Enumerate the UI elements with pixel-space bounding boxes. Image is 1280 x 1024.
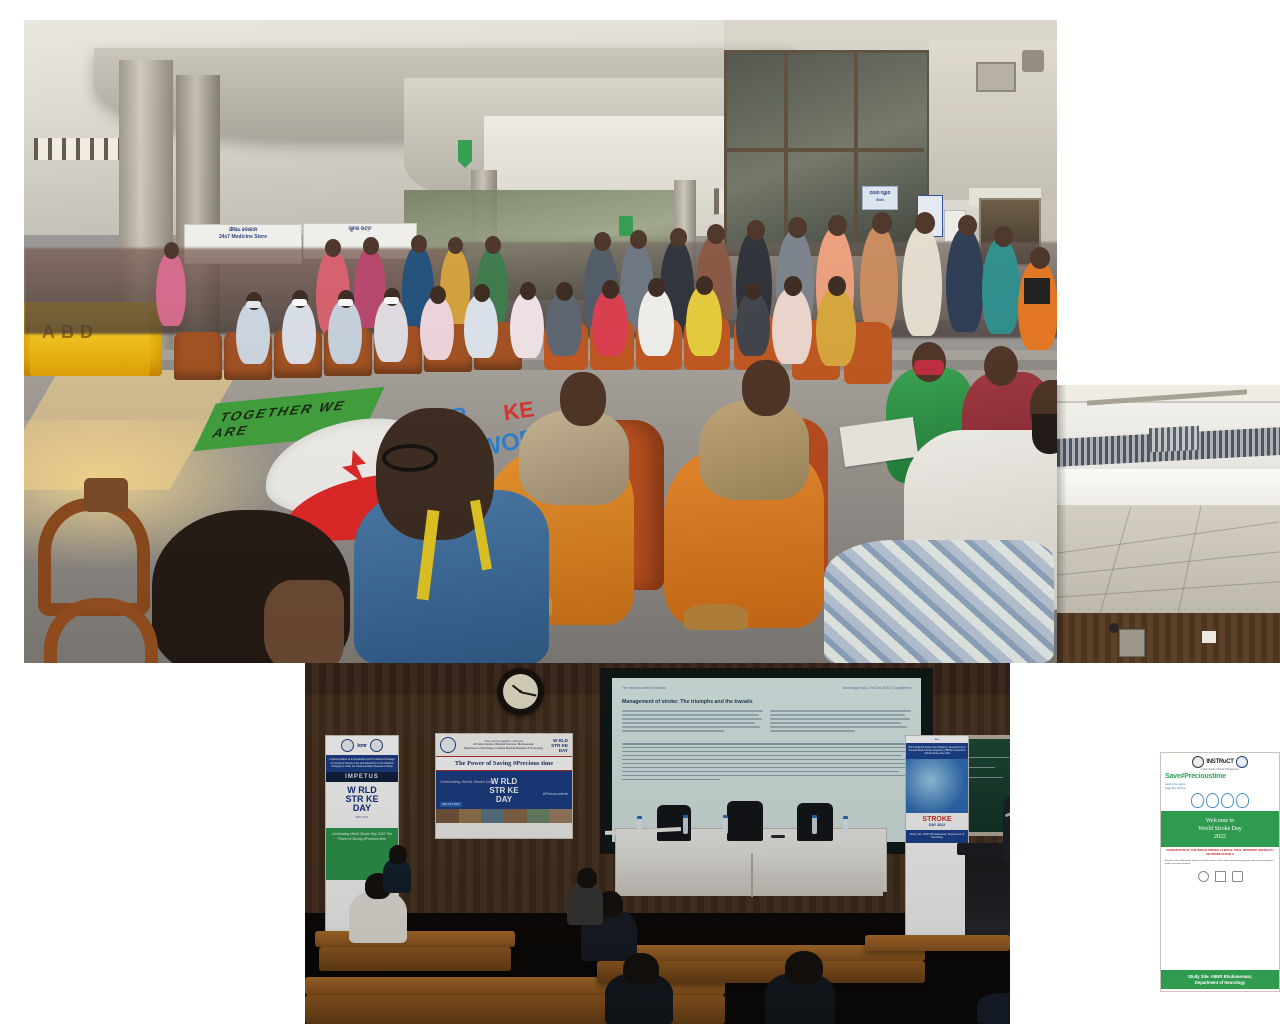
person-head	[742, 360, 790, 416]
podium-banner-project-title: IPD & National Stroke Care Registry | De…	[906, 743, 968, 759]
wood-panelled-wall	[1057, 613, 1280, 663]
lectern-podium	[965, 848, 1010, 948]
sari-shawl	[699, 400, 809, 500]
poster-header-row: ଅଖିଳ ଭାରତୀୟ ଆୟୁର୍ବିଜ୍ଞାନ ପ୍ରତିଷ୍ଠାନ All …	[436, 734, 572, 756]
slide-header-left: The triumphs and the travails	[622, 686, 666, 690]
person-standing	[902, 226, 942, 336]
podium-banner-logos: ■ ●	[906, 736, 968, 743]
welcome-line-3: 2022	[1163, 833, 1277, 841]
audience-member-body	[567, 883, 603, 925]
person-head	[560, 372, 606, 426]
slide-title: Management of stroke: The triumphs and t…	[622, 699, 911, 705]
water-bottle	[723, 815, 728, 834]
poster-photo-strip	[436, 809, 572, 823]
speech-difficulty-icon	[1221, 793, 1234, 808]
person-head	[747, 220, 765, 240]
partner-logo-icon	[1232, 871, 1243, 882]
person-head	[784, 276, 802, 296]
sign-exit-text: Exit	[864, 196, 896, 203]
wsd-line-3: DAY	[326, 804, 398, 813]
right-banner-welcome-block: Welcome to World Stroke Day 2022	[1161, 811, 1279, 847]
right-banner-consortium-heading: CONSORTIUM OF THE INDIAN STROKE CLINICAL…	[1161, 847, 1279, 858]
window-transom	[724, 148, 924, 152]
person-head	[994, 226, 1013, 247]
podium-banner-wsd-logo: STROKE DAY 2022	[906, 813, 968, 830]
seated-attendee-red-sari	[592, 290, 628, 356]
ceiling-speaker-icon	[1109, 623, 1119, 633]
person-head	[164, 242, 179, 259]
right-banner-footer: Study Site: AIIMS Bhubaneswar, Departmen…	[1161, 970, 1279, 989]
banner-left-wsd-logo: W RLD STR KE DAY 29th OCT	[326, 782, 398, 826]
person-head	[788, 217, 807, 238]
person-standing	[860, 226, 898, 334]
ac-diffuser-grille-segment	[1149, 426, 1199, 453]
slide-columns	[622, 710, 911, 734]
poster-photo-thumb	[436, 809, 459, 823]
wall-speaker	[1022, 50, 1044, 72]
govt-emblem-icon	[341, 739, 354, 752]
standee-banner-podium: ■ ● IPD & National Stroke Care Registry …	[905, 735, 969, 937]
arm-weakness-icon	[1206, 793, 1219, 808]
audience-bench	[865, 935, 1010, 951]
poster-wsd-line-2: STR KE	[489, 786, 518, 795]
water-bottle	[683, 815, 688, 834]
person-head	[485, 236, 501, 254]
photo-edge-shadow	[1057, 385, 1067, 663]
foot-sandal	[684, 604, 748, 630]
water-bottle	[812, 815, 817, 834]
water-bottle	[843, 816, 848, 835]
face-mask-icon	[384, 297, 399, 304]
wsd-year: 29th OCT	[326, 813, 398, 822]
seated-staff	[420, 296, 454, 360]
poster-photo-thumb	[549, 809, 572, 823]
poster-photo-thumb	[527, 809, 550, 823]
seated-attendee	[772, 288, 812, 364]
poster-wsd-line-1: W RLD	[489, 777, 518, 786]
poster-institute-block: ଅଖିଳ ଭାରତୀୟ ଆୟୁର୍ବିଜ୍ଞାନ ପ୍ରତିଷ୍ଠାନ All …	[459, 740, 548, 750]
poster-wsd-logo: W RLD STR KE DAY	[489, 777, 518, 804]
partner-logo-icon	[1198, 871, 1209, 882]
poster-wsd-band: Celebrating World Stroke Day W RLD STR K…	[436, 771, 572, 809]
poster-wsd-line-3: DAY	[489, 795, 518, 804]
right-banner-fast-icons	[1161, 790, 1279, 811]
person-head	[448, 237, 463, 254]
person-standing	[982, 238, 1020, 334]
icmr-logo-icon: icmr	[357, 743, 366, 749]
dais-table-front	[617, 851, 883, 896]
audience-bench	[315, 931, 515, 947]
wall-thermostat	[1119, 629, 1145, 657]
time-to-call-icon	[1236, 793, 1249, 808]
seated-staff	[510, 292, 544, 358]
wall-switch-plate	[1202, 631, 1216, 643]
person-head	[556, 282, 573, 301]
govt-emblem-icon	[1192, 756, 1204, 768]
wall-ac-unit	[976, 62, 1016, 92]
person-head	[325, 239, 341, 257]
seated-attendee	[816, 288, 856, 366]
aiims-emblem-icon	[440, 737, 456, 753]
photo-collage: ଔଷଧ ଦୋକାନ 24x7 Medicine Store ସୂଚନା ପଟ୍ଟ…	[0, 0, 1280, 1024]
person-head	[958, 215, 977, 236]
face-mask-icon	[338, 299, 353, 306]
false-ceiling-tiles	[1057, 505, 1280, 615]
poster-middle: ଅଖିଳ ଭାରତୀୟ ଆୟୁର୍ବିଜ୍ଞାନ ପ୍ରତିଷ୍ଠାନ All …	[435, 733, 573, 839]
sign-notice-board-text: ସୂଚନା ପଟ୍ଟ	[305, 226, 415, 233]
poster-photo-thumb	[504, 809, 527, 823]
dais-table-seam	[751, 853, 753, 897]
person-head	[520, 282, 536, 300]
person-head	[363, 237, 379, 255]
seated-attendee	[638, 288, 674, 356]
person-head	[707, 224, 725, 244]
slide-body-paragraph	[622, 743, 911, 780]
person-head	[745, 282, 761, 300]
banner-left-logos: icmr	[326, 736, 398, 755]
right-banner-body-text: A multi-centre collaborative network of …	[1161, 858, 1279, 868]
photo-auditorium-ceiling	[1057, 385, 1280, 663]
poster-wsd-mini-logo: W RLD STR KE DAY	[551, 738, 568, 753]
seated-attendee-yellow	[686, 286, 722, 356]
podium-banner-footer: Study Site: AIIMS Bhubaneswar, Departmen…	[906, 830, 968, 843]
slide-column-left	[622, 710, 763, 734]
person-head	[872, 212, 892, 234]
seated-attendee	[546, 292, 582, 356]
instruct-logo-icon: INSTRuCT	[1206, 759, 1233, 765]
audience-member-head	[389, 845, 407, 864]
wsd-mini-line-3: DAY	[559, 748, 568, 753]
person-head	[430, 286, 446, 304]
wooden-chair	[174, 332, 222, 380]
sign-exit: ବାହାର ଦ୍ୱାର Exit	[862, 186, 898, 210]
brain-with-clock-icon	[906, 759, 968, 813]
slide-header-right: Neurology India | Oct-Dec 2022 | Supplem…	[843, 686, 911, 690]
person-head	[828, 215, 847, 236]
slide-header: The triumphs and the travails Neurology …	[622, 686, 911, 690]
speaker-torso	[1003, 795, 1010, 861]
seated-staff	[464, 294, 498, 358]
poster-subheader: Department of Neurology & Institute Medi…	[464, 747, 543, 750]
audience-member-head	[785, 951, 823, 985]
person-standing	[946, 228, 984, 332]
seated-staff	[374, 298, 408, 362]
seated-staff	[236, 302, 270, 364]
person-head	[1030, 247, 1050, 269]
face-mask-icon	[246, 301, 261, 308]
right-banner-partner-logos	[1161, 868, 1279, 885]
table-microphone	[771, 835, 785, 838]
partner-logo-icon	[1215, 871, 1226, 882]
podium-wsd-line-3: DAY 2022	[906, 823, 968, 827]
face-mask-icon	[914, 360, 944, 375]
person-head	[984, 346, 1018, 386]
person-head	[411, 235, 427, 253]
person-head	[630, 230, 647, 249]
sign-medicine-store-text: 24x7 Medicine Store	[186, 234, 300, 241]
banner-left-impetus-label: IMPETUS	[326, 772, 398, 782]
seated-child	[736, 292, 770, 356]
audience-member-body	[977, 993, 1010, 1024]
photo-hospital-atrium: ଔଷଧ ଦୋକାନ 24x7 Medicine Store ସୂଚନା ପଟ୍ଟ…	[24, 20, 1057, 663]
sign-exit-local: ବାହାର ଦ୍ୱାର	[864, 189, 896, 196]
person-standing-orange-shirt	[1018, 260, 1057, 350]
audience-bench-front	[319, 947, 511, 971]
audience-member-head	[577, 868, 597, 888]
wooden-table-edge	[84, 478, 128, 512]
eyeglasses-icon	[382, 444, 438, 472]
face-droop-icon	[1191, 793, 1204, 808]
person-head	[915, 212, 935, 234]
audience-member-head	[623, 953, 659, 985]
person-head	[696, 276, 713, 295]
beard	[1032, 414, 1057, 454]
aiims-logo-icon	[370, 739, 383, 752]
podium-wsd-line-2: STROKE	[906, 816, 968, 823]
banner-left-project-title: Implementation of an Evaluative and Trea…	[326, 755, 398, 772]
person-standing	[156, 252, 186, 326]
foreground-person-face	[264, 580, 344, 663]
poster-photo-thumb	[481, 809, 504, 823]
aiims-logo-icon: ●	[937, 738, 939, 741]
slide-column-right	[770, 710, 911, 734]
poster-left-tag: Celebrating World Stroke Day	[440, 779, 493, 784]
dais-chair	[727, 801, 763, 841]
person-head	[602, 280, 619, 299]
poster-main-title: The Power of Saving #Precious time	[436, 756, 572, 771]
audience-member-body	[383, 859, 411, 893]
person-head	[828, 276, 846, 296]
poster-year-chip: 29th OCT 2022	[440, 802, 462, 807]
poster-photo-thumb	[459, 809, 482, 823]
sign-medicine-store-local: ଔଷଧ ଦୋକାନ	[186, 227, 300, 234]
person-head	[648, 278, 665, 297]
clock-center-hub	[519, 690, 522, 693]
person-head	[594, 232, 611, 251]
ceiling-fascia	[1057, 469, 1280, 505]
icmr-logo-icon	[1236, 756, 1248, 768]
footer-line-2: Department of Neurology	[1163, 980, 1277, 986]
welcome-line-2: World Stroke Day	[1163, 825, 1277, 833]
poster-right-tag: #Precioustime	[543, 791, 568, 796]
person-head	[670, 228, 687, 247]
seated-staff	[282, 300, 316, 364]
tshirt-graphic	[1024, 278, 1050, 304]
checked-lungi	[824, 540, 1054, 663]
seated-staff	[328, 300, 362, 364]
person-head	[474, 284, 490, 302]
wall-clock	[497, 668, 544, 715]
right-banner-tagline: Save#Precioustime	[1161, 771, 1279, 782]
standee-banner-right: INSTRuCT Indian Stroke Clinical Trial Ne…	[1160, 752, 1280, 992]
welcome-line-1: Welcome to	[1163, 817, 1277, 825]
projection-screen: The triumphs and the travails Neurology …	[600, 668, 933, 854]
photo-lecture-hall: The triumphs and the travails Neurology …	[305, 663, 1010, 1024]
face-mask-icon	[292, 299, 307, 306]
